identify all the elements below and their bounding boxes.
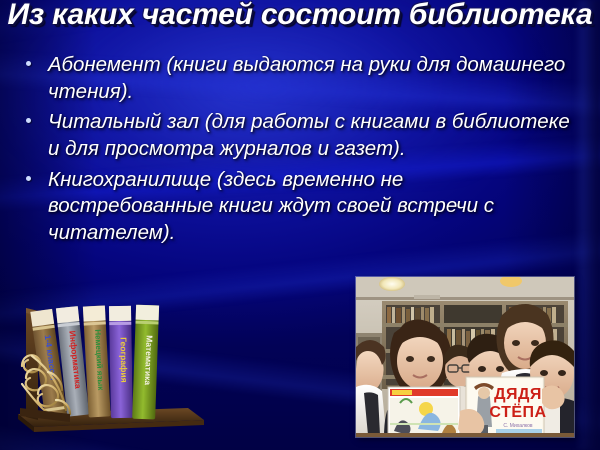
bullet-text: Читальный зал (для работы с книгами в би…: [48, 109, 574, 162]
library-children-photo: ДЯДЯ СТЁПА С. Михалков: [356, 277, 574, 437]
list-item: Читальный зал (для работы с книгами в би…: [26, 109, 574, 162]
held-picture-book: [388, 387, 460, 437]
ceiling-lamp: [379, 277, 405, 291]
bullet-dot-icon: [26, 52, 48, 66]
bullet-text: Книгохранилище (здесь временно не востре…: [48, 167, 574, 247]
bullet-dot-icon: [26, 109, 48, 123]
svg-text:СТЁПА: СТЁПА: [489, 403, 546, 421]
bullet-text: Абонемент (книги выдаются на руки для до…: [48, 52, 574, 105]
presentation-slide: Из каких частей состоит библиотека Абоне…: [0, 0, 600, 450]
bookshelf-clipart: 1-4 классы Информатика Немецкий язык Гео…: [12, 296, 212, 438]
book: География: [109, 306, 133, 418]
bullet-dot-icon: [26, 167, 48, 181]
list-item: Абонемент (книги выдаются на руки для до…: [26, 52, 574, 105]
slide-title: Из каких частей состоит библиотека: [0, 0, 600, 32]
svg-text:Математика: Математика: [143, 335, 155, 386]
svg-text:География: География: [118, 337, 129, 383]
book: Математика: [132, 305, 159, 420]
bullet-list: Абонемент (книги выдаются на руки для до…: [26, 52, 574, 250]
svg-text:ДЯДЯ: ДЯДЯ: [494, 386, 542, 403]
list-item: Книгохранилище (здесь временно не востре…: [26, 167, 574, 247]
svg-text:С. Михалков: С. Михалков: [503, 423, 533, 429]
